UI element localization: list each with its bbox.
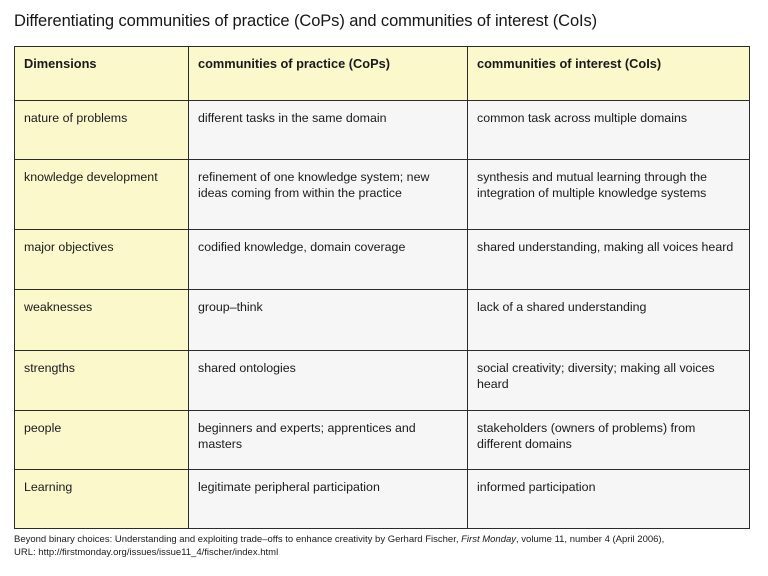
table-row: Learning legitimate peripheral participa… [15,470,750,529]
coi-cell: stakeholders (owners of problems) from d… [468,411,750,470]
caption-line-1: Beyond binary choices: Understanding and… [14,534,756,547]
dimension-cell: strengths [15,351,189,411]
caption-journal-name: First Monday [461,534,516,545]
table-body: nature of problems different tasks in th… [15,101,750,529]
comparison-table: Dimensions communities of practice (CoPs… [14,46,750,529]
coi-cell: social creativity; diversity; making all… [468,351,750,411]
column-header-dimensions: Dimensions [15,47,189,101]
dimension-cell: weaknesses [15,290,189,351]
source-caption: Beyond binary choices: Understanding and… [14,534,756,559]
caption-text-after-journal: , volume 11, number 4 (April 2006), [516,534,664,545]
dimension-cell: major objectives [15,230,189,290]
cop-cell: legitimate peripheral participation [189,470,468,529]
dimension-cell: knowledge development [15,160,189,230]
column-header-communities-of-practice: communities of practice (CoPs) [189,47,468,101]
column-header-communities-of-interest: communities of interest (CoIs) [468,47,750,101]
table-header-row: Dimensions communities of practice (CoPs… [15,47,750,101]
slide-page: Differentiating communities of practice … [0,0,768,576]
table-row: people beginners and experts; apprentice… [15,411,750,470]
dimension-cell: people [15,411,189,470]
cop-cell: refinement of one knowledge system; new … [189,160,468,230]
cop-cell: shared ontologies [189,351,468,411]
table-row: weaknesses group–think lack of a shared … [15,290,750,351]
table-row: nature of problems different tasks in th… [15,101,750,160]
cop-cell: codified knowledge, domain coverage [189,230,468,290]
caption-text-before-journal: Beyond binary choices: Understanding and… [14,534,461,545]
page-title: Differentiating communities of practice … [14,11,754,31]
coi-cell: informed participation [468,470,750,529]
table-header: Dimensions communities of practice (CoPs… [15,47,750,101]
table-row: strengths shared ontologies social creat… [15,351,750,411]
cop-cell: beginners and experts; apprentices and m… [189,411,468,470]
caption-url: URL: http://firstmonday.org/issues/issue… [14,547,756,560]
coi-cell: shared understanding, making all voices … [468,230,750,290]
dimension-cell: nature of problems [15,101,189,160]
table-row: knowledge development refinement of one … [15,160,750,230]
dimension-cell: Learning [15,470,189,529]
coi-cell: synthesis and mutual learning through th… [468,160,750,230]
cop-cell: group–think [189,290,468,351]
table-row: major objectives codified knowledge, dom… [15,230,750,290]
coi-cell: common task across multiple domains [468,101,750,160]
coi-cell: lack of a shared understanding [468,290,750,351]
cop-cell: different tasks in the same domain [189,101,468,160]
